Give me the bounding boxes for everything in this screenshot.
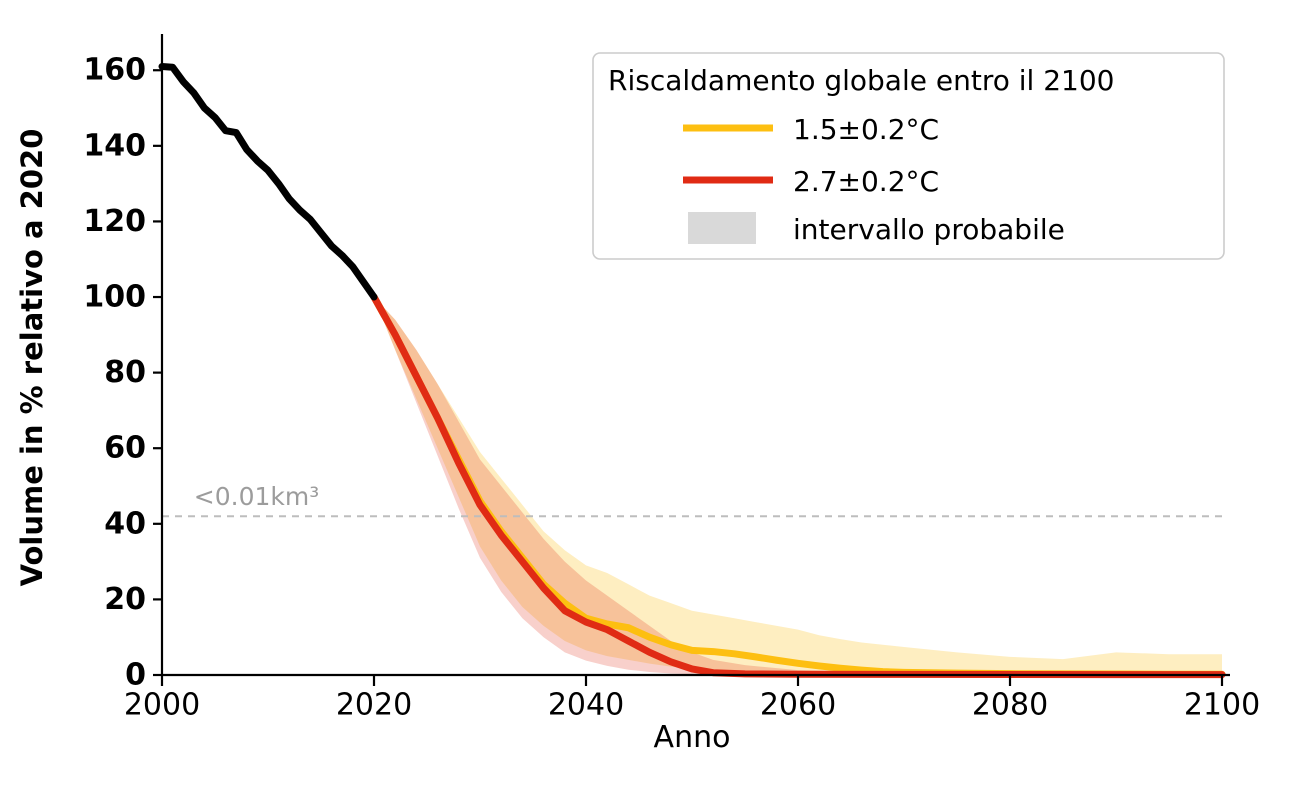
x-tick-label: 2060 — [760, 688, 836, 723]
y-tick-label: 120 — [83, 204, 146, 239]
y-tick-label: 60 — [104, 431, 146, 466]
x-tick-label: 2100 — [1184, 688, 1260, 723]
legend-label-interval[interactable]: intervallo probabile — [793, 213, 1065, 246]
y-tick-label: 100 — [83, 280, 146, 315]
y-tick-label: 40 — [104, 506, 146, 541]
y-tick-label: 20 — [104, 582, 146, 617]
x-axis-title: Anno — [654, 720, 731, 755]
chart-root: 020406080100120140160 200020202040206020… — [0, 0, 1300, 800]
uncertainty-bands — [374, 297, 1222, 675]
x-tick-labels: 200020202040206020802100 — [124, 688, 1260, 723]
x-tick-label: 2080 — [972, 688, 1048, 723]
band-scenario-15 — [374, 297, 1222, 675]
legend[interactable]: Riscaldamento globale entro il 2100 1.5±… — [593, 53, 1224, 259]
x-tick-label: 2020 — [336, 688, 412, 723]
legend-swatch-interval — [688, 212, 756, 244]
y-tick-label: 160 — [83, 53, 146, 88]
x-tick-label: 2000 — [124, 688, 200, 723]
x-tick-label: 2040 — [548, 688, 624, 723]
legend-title: Riscaldamento globale entro il 2100 — [608, 64, 1114, 97]
y-tick-label: 140 — [83, 128, 146, 163]
y-tick-label: 80 — [104, 355, 146, 390]
y-tickmarks — [153, 70, 162, 675]
glacier-volume-chart: 020406080100120140160 200020202040206020… — [0, 0, 1300, 800]
legend-label-scenario-15[interactable]: 1.5±0.2°C — [793, 113, 939, 146]
line-historical — [162, 66, 374, 297]
y-tick-labels: 020406080100120140160 — [83, 53, 146, 693]
y-axis-title: Volume in % relativo a 2020 — [15, 129, 49, 587]
legend-label-scenario-27[interactable]: 2.7±0.2°C — [793, 165, 939, 198]
threshold-annotation: <0.01km³ — [194, 482, 319, 511]
